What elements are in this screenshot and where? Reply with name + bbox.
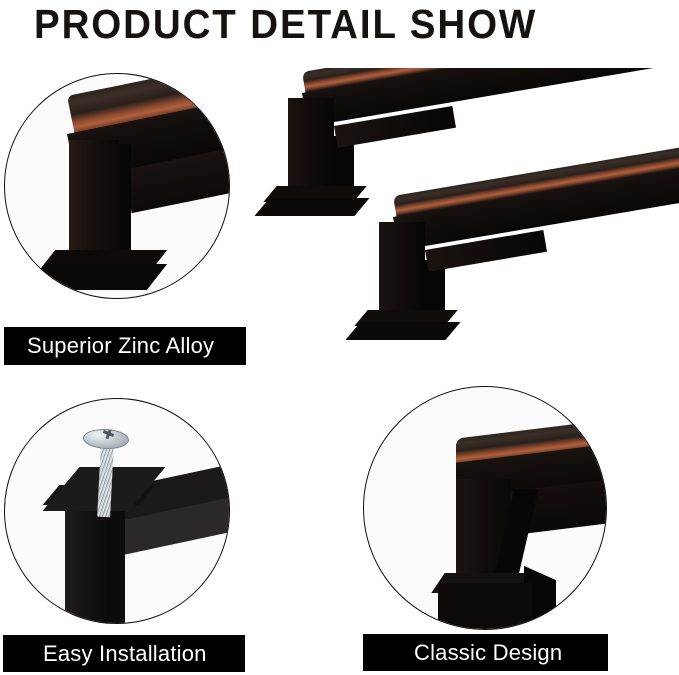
feature-photo-superior-zinc-alloy bbox=[4, 73, 230, 299]
pull-leg bbox=[379, 222, 425, 318]
feature-photo-easy-installation bbox=[4, 398, 230, 624]
pull-foot-lower bbox=[345, 322, 460, 340]
pull-foot-lower bbox=[27, 264, 167, 290]
pull-post bbox=[69, 140, 119, 265]
main-product-photo bbox=[250, 68, 679, 368]
pull-post bbox=[65, 503, 109, 624]
feature-label-easy-installation: Easy Installation bbox=[3, 635, 245, 672]
pull-post-shade bbox=[113, 144, 131, 262]
product-detail-page: PRODUCT DETAIL SHOW bbox=[0, 0, 679, 675]
feature-label-superior-zinc-alloy: Superior Zinc Alloy bbox=[4, 327, 246, 365]
page-title: PRODUCT DETAIL SHOW bbox=[34, 0, 598, 50]
feature-photo-classic-design bbox=[363, 386, 607, 630]
pull-leg bbox=[288, 98, 334, 194]
feature-label-classic-design: Classic Design bbox=[363, 634, 608, 671]
pull-foot-lower bbox=[254, 198, 369, 216]
pull-foot-lower bbox=[438, 583, 532, 630]
